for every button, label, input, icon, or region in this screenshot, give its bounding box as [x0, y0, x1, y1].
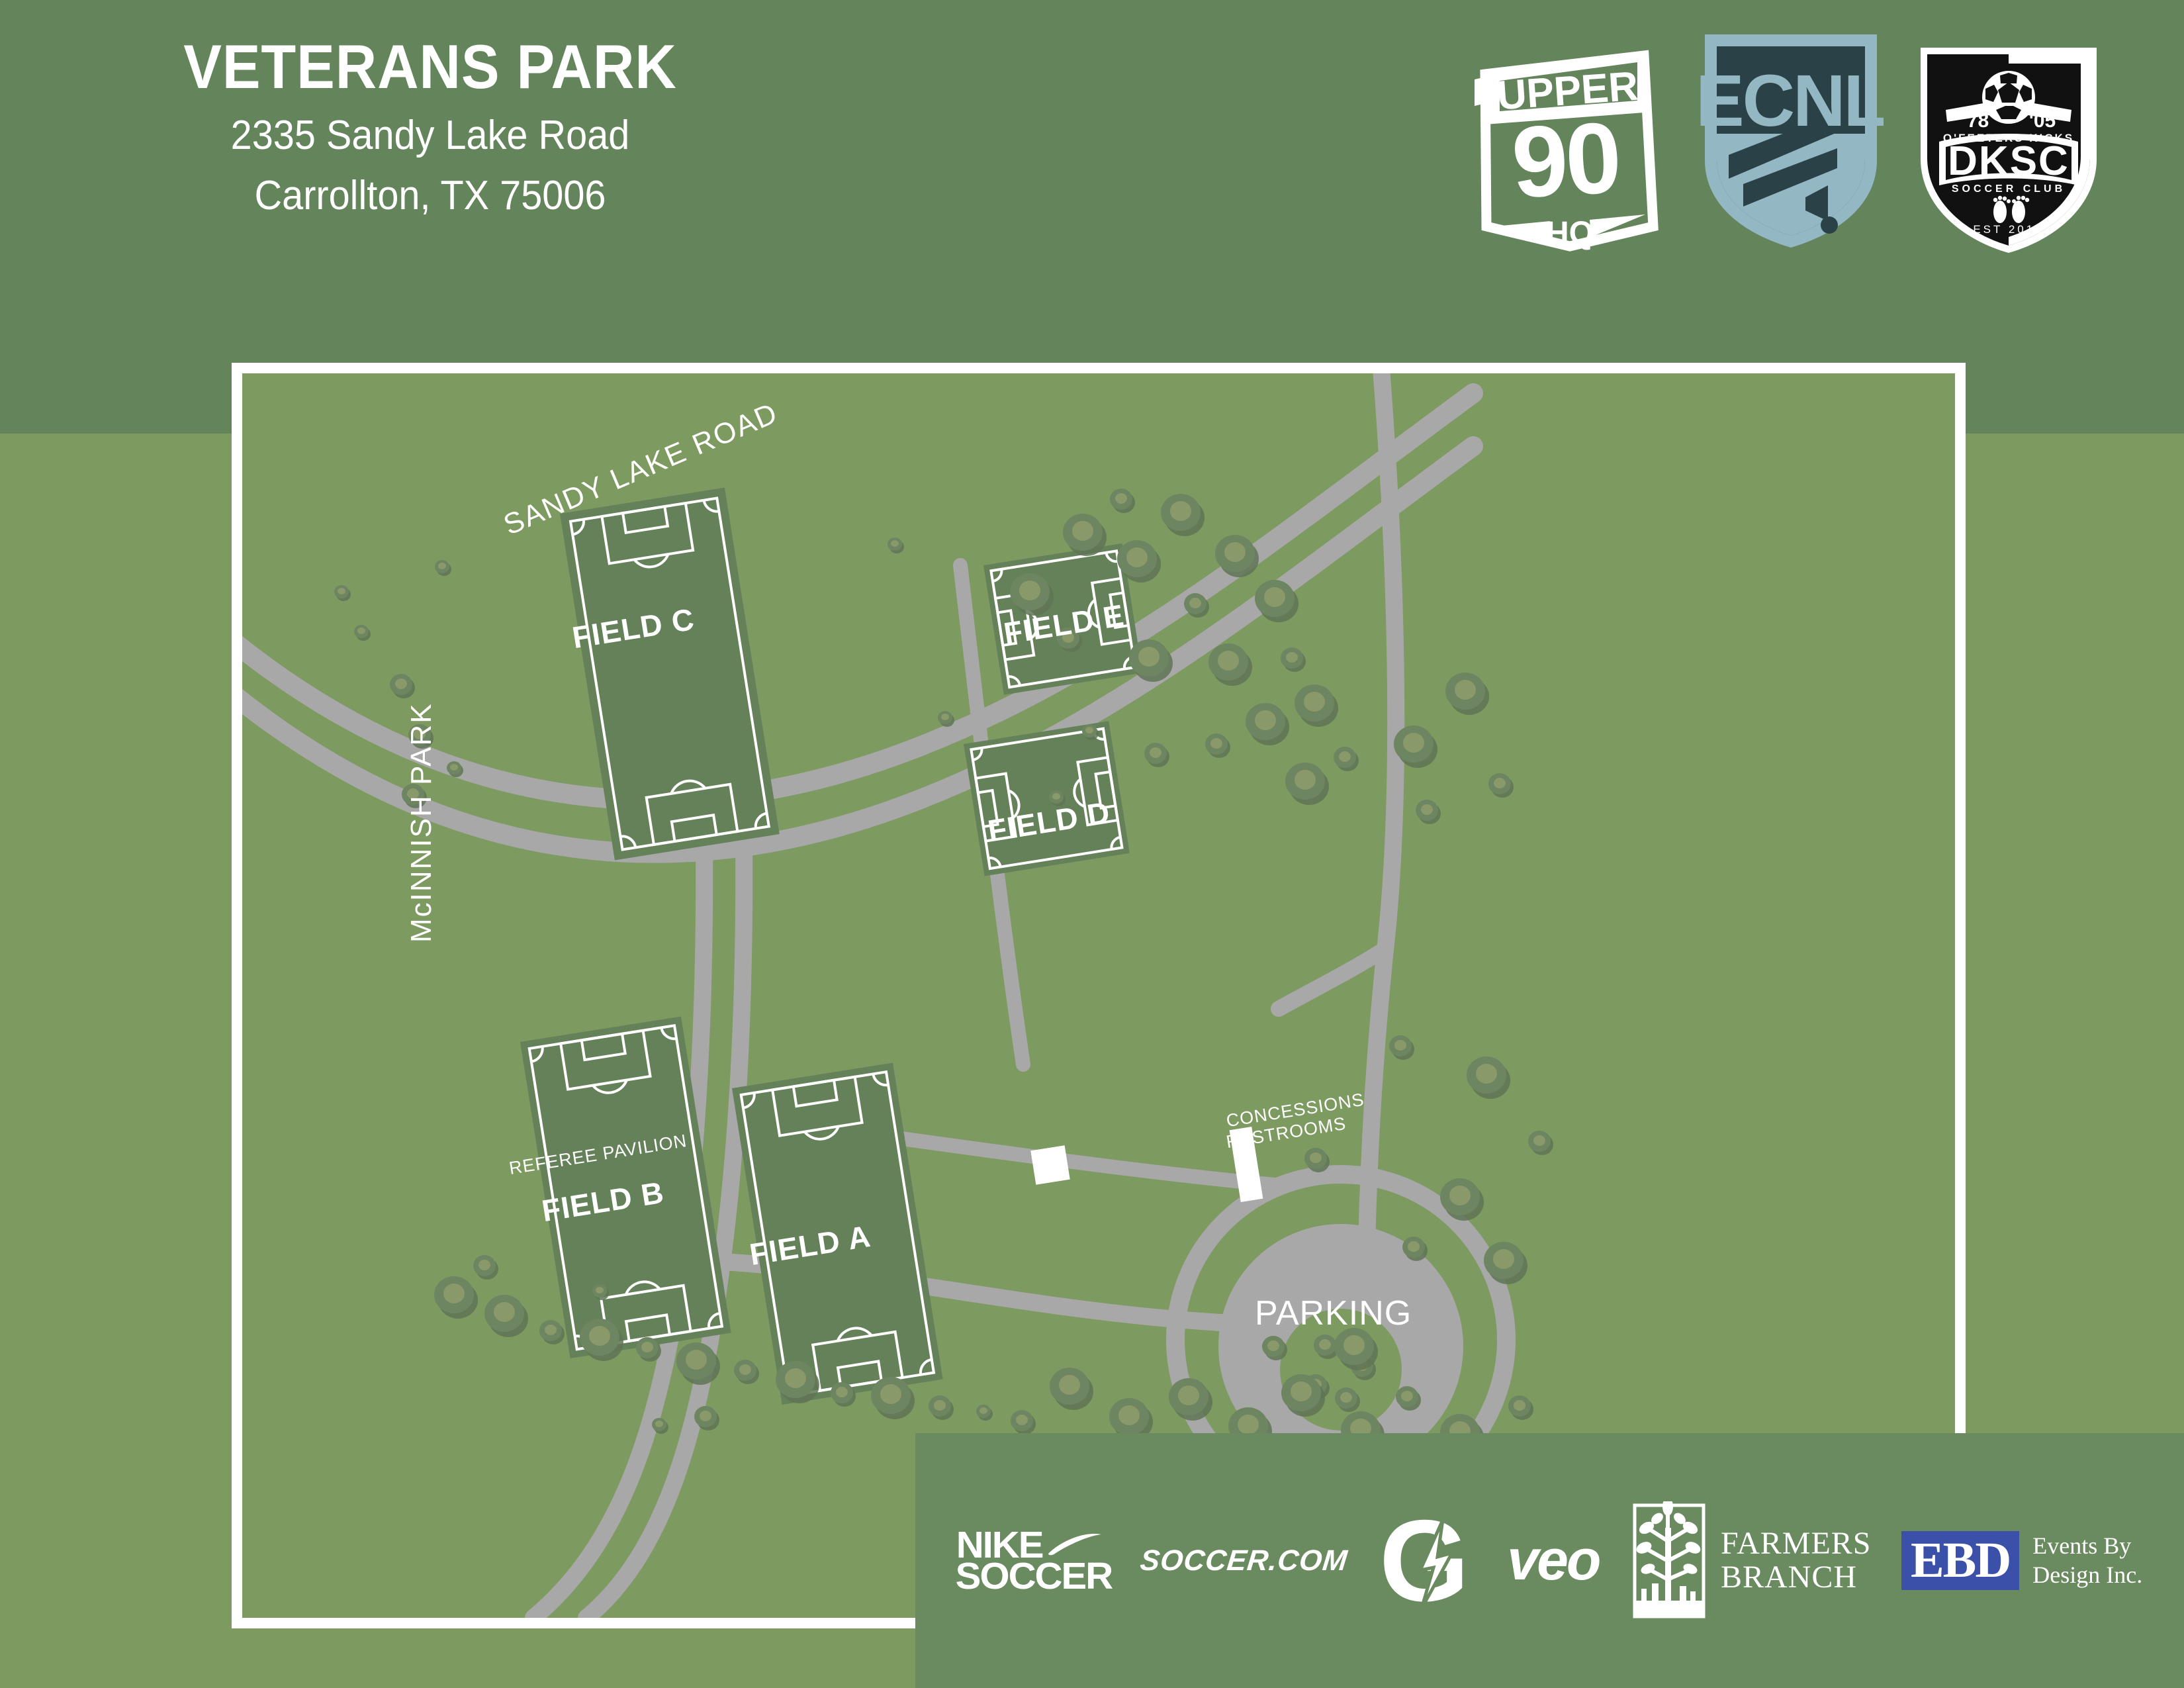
- map-canvas: SANDY LAKE ROAD McINNISH PARK FIELD C FI…: [242, 373, 1955, 1618]
- nike-swoosh-icon: [1047, 1534, 1103, 1556]
- dksc-year-right: '05: [2029, 110, 2056, 132]
- referee-pavilion-building: [1030, 1145, 1069, 1184]
- address-line-2: Carrollton, TX 75006: [30, 170, 831, 222]
- ecnl-wordmark: ECNL: [1698, 60, 1884, 142]
- upper-90-hq-text: HQ: [1546, 216, 1594, 251]
- farmers-branch-line2: BRANCH: [1721, 1561, 1872, 1594]
- dksc-year-left: '78: [1962, 110, 1989, 132]
- ebd-mark: EBD: [1901, 1531, 2019, 1589]
- farmers-branch-tree-icon: [1629, 1501, 1709, 1620]
- soccer-text: SOCCER: [955, 1561, 1112, 1592]
- veterans-park-map-page: VETERANS PARK 2335 Sandy Lake Road Carro…: [0, 0, 2184, 1688]
- amenity-label-parking: PARKING: [1255, 1293, 1412, 1333]
- address-line-1: 2335 Sandy Lake Road: [30, 110, 831, 162]
- dksc-wordmark: DKSC: [1948, 138, 2070, 184]
- dksc-logo: '78 '05 O'FEETERS KICKS DKSC SOCCER CLUB: [1913, 28, 2105, 259]
- header-text-block: VETERANS PARK 2335 Sandy Lake Road Carro…: [0, 33, 860, 222]
- sponsor-farmers-branch: FARMERS BRANCH: [1629, 1501, 1872, 1620]
- road-label-mcinnish-park: McINNISH PARK: [405, 702, 438, 943]
- logo-row: UPPER 90 HQ ECNL: [1471, 28, 2105, 259]
- sponsor-bar: NIKE SOCCER SOCCER.COM G veo: [915, 1433, 2184, 1688]
- sponsor-gatorade: G: [1378, 1501, 1477, 1620]
- ebd-line1: Events By: [2032, 1532, 2142, 1560]
- dksc-arc-bottom: SOCCER CLUB: [1952, 183, 2066, 195]
- sponsor-events-by-design: EBD Events By Design Inc.: [1901, 1531, 2142, 1589]
- ebd-line2: Design Inc.: [2032, 1561, 2142, 1589]
- sponsor-veo: veo: [1507, 1528, 1599, 1593]
- upper-90-hq-logo: UPPER 90 HQ: [1471, 28, 1669, 256]
- sponsor-soccer-com: SOCCER.COM: [1138, 1544, 1349, 1577]
- page-title: VETERANS PARK: [34, 33, 826, 101]
- dksc-established: EST 2018: [1973, 223, 2044, 236]
- farmers-branch-line1: FARMERS: [1721, 1527, 1872, 1560]
- upper-90-number-text: 90: [1509, 101, 1621, 219]
- sponsor-nike-soccer: NIKE SOCCER: [957, 1530, 1111, 1591]
- ecnl-logo: ECNL: [1698, 28, 1884, 256]
